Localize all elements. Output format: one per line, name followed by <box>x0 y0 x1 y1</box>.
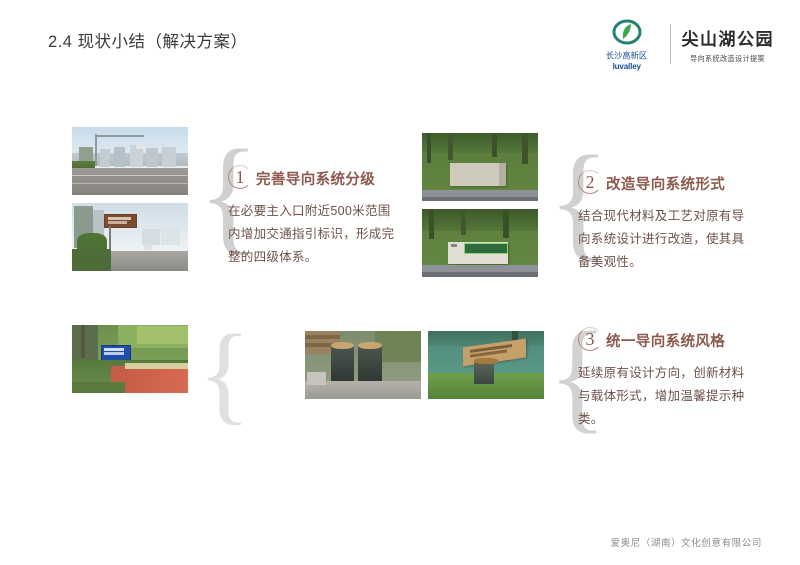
photo-wood-tilt-board <box>428 331 544 399</box>
slide-canvas: 2.4 现状小结（解决方案） 长沙高新区 luvalley 尖山湖公园 导向系统… <box>0 0 800 565</box>
block-2-heading-row: 2 改造导向系统形式 <box>578 170 750 196</box>
photo-park-green-sign <box>422 209 538 277</box>
block-1-number-badge: 1 <box>228 165 253 191</box>
block-3: 3 统一导向系统风格 延续原有设计方向，创新材料与载体形式，增加温馨提示种类。 <box>578 327 750 431</box>
block-1: 1 完善导向系统分级 在必要主入口附近500米范围内增加交通指引标识，形成完整的… <box>228 165 398 269</box>
brand-divider <box>670 24 671 64</box>
brand-en-name: luvalley <box>612 62 640 70</box>
brand-cn-name: 长沙高新区 <box>606 49 647 61</box>
brand-right-group: 尖山湖公园 导向系统改造设计提案 <box>682 25 775 64</box>
park-name: 尖山湖公园 <box>682 25 775 50</box>
block-3-number-badge: 3 <box>578 327 603 353</box>
photo-road-intersection <box>72 127 188 195</box>
block-1-number: 1 <box>228 165 252 189</box>
page-title: 2.4 现状小结（解决方案） <box>48 28 248 52</box>
block-3-heading-row: 3 统一导向系统风格 <box>578 327 750 353</box>
block-2-number-badge: 2 <box>578 170 603 196</box>
photo-stone-bollards <box>305 331 421 399</box>
block-1-heading-row: 1 完善导向系统分级 <box>228 165 398 191</box>
brand-left-group: 长沙高新区 luvalley <box>590 18 664 71</box>
brand-lockup: 长沙高新区 luvalley 尖山湖公园 导向系统改造设计提案 <box>590 18 775 70</box>
block-2-heading: 改造导向系统形式 <box>606 173 725 194</box>
block-3-heading: 统一导向系统风格 <box>606 330 725 351</box>
photo-park-blank-monument <box>422 133 538 201</box>
block-2: 2 改造导向系统形式 结合现代材料及工艺对原有导向系统设计进行改造，使其具备美观… <box>578 170 750 274</box>
luvalley-swirl-logo-icon <box>612 18 642 48</box>
block-1-body: 在必要主入口附近500米范围内增加交通指引标识，形成完整的四级体系。 <box>228 200 398 269</box>
photo-road-brown-sign <box>72 203 188 271</box>
block-2-body: 结合现代材料及工艺对原有导向系统设计进行改造，使其具备美观性。 <box>578 205 750 274</box>
block-3-body: 延续原有设计方向，创新材料与载体形式，增加温馨提示种类。 <box>578 362 750 431</box>
block-2-number: 2 <box>578 170 602 194</box>
block-1-heading: 完善导向系统分级 <box>256 168 375 189</box>
photo-red-trail-blue-sign <box>72 325 188 393</box>
park-subtitle: 导向系统改造设计提案 <box>690 53 765 63</box>
block-3-number: 3 <box>578 327 602 351</box>
footer-company: 爱奥尼（湖南）文化创意有限公司 <box>610 535 762 549</box>
brace-block-3: { <box>198 318 251 428</box>
